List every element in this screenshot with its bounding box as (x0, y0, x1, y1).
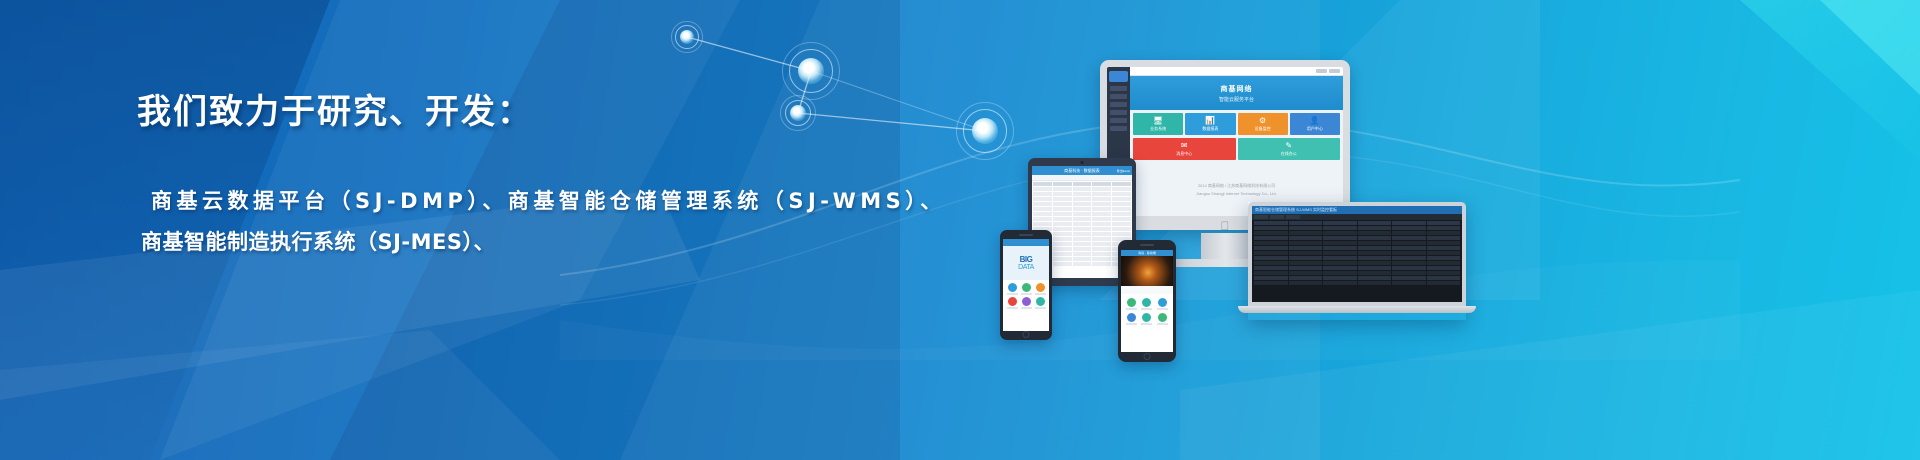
phone-speaker-icon (1019, 234, 1033, 236)
network-node-1 (680, 30, 694, 44)
dashboard-hero: 商基网络 智能云服务平台 (1130, 76, 1343, 110)
table-header-row (1032, 181, 1132, 186)
table-row[interactable] (1032, 216, 1132, 221)
tile-reports-label: 数据报表 (1202, 126, 1218, 132)
banner-product-list: 商基云数据平台（SJ-DMP）、商基智能仓储管理系统（SJ-WMS）、 商基智能… (137, 181, 957, 263)
app-leaf[interactable] (1020, 283, 1032, 295)
table-row[interactable] (1252, 280, 1462, 285)
user-icon (1158, 313, 1167, 322)
product-line-1: 商基云数据平台（SJ-DMP）、商基智能仓储管理系统（SJ-WMS）、 (137, 181, 957, 222)
tile-monitoring[interactable]: ⚙ 设备监控 (1238, 113, 1288, 135)
table-row[interactable] (1252, 255, 1462, 260)
table-row[interactable] (1252, 240, 1462, 245)
table-row[interactable] (1252, 260, 1462, 265)
laptop-title: 商基智能仓储管理系统 SJ-WMS 实时监控看板 (1255, 207, 1337, 213)
tile-messages[interactable]: ✉ 消息中心 (1133, 138, 1236, 160)
gauge-icon: ⚙ (1259, 117, 1266, 125)
table-row[interactable] (1252, 225, 1462, 230)
bigdata-hero-bottom: DATA (1018, 264, 1034, 271)
bigdata-hero-top: BIG (1020, 256, 1033, 264)
tile-office-label: 在线办公 (1281, 151, 1297, 157)
footer-line-2: Jiangsu Shangji Internet Technology Co.,… (1196, 191, 1276, 196)
chart-icon: 📊 (1205, 117, 1215, 125)
app-chart[interactable] (1125, 313, 1138, 325)
tablet-camera-icon (1081, 161, 1084, 164)
tile-reports[interactable]: 📊 数据报表 (1185, 113, 1235, 135)
table-row[interactable] (1032, 211, 1132, 216)
gear-icon (1022, 297, 1031, 306)
laptop-lid: 商基智能仓储管理系统 SJ-WMS 实时监控看板 (1248, 202, 1466, 306)
dashboard-tiles-row2: ✉ 消息中心 ✎ 在线办公 (1130, 138, 1343, 163)
product-line-2: 商基智能制造执行系统（SJ-MES）、 (137, 222, 957, 263)
sidebar-item-4[interactable] (1110, 118, 1127, 123)
cloud-icon (1158, 298, 1167, 307)
topbar-user-icon[interactable] (1329, 69, 1340, 73)
laptop-device: 商基智能仓储管理系统 SJ-WMS 实时监控看板 (1248, 202, 1466, 320)
sidebar-item-2[interactable] (1110, 102, 1127, 107)
app-cloud[interactable] (1156, 298, 1169, 310)
tile-user-center-label: 用户中心 (1307, 126, 1323, 132)
tile-business[interactable]: 🖥 业务系统 (1133, 113, 1183, 135)
bg-facet-corner-glow (1560, 0, 1920, 200)
phone-bigdata-hero: BIG DATA (1003, 246, 1049, 280)
app-user[interactable] (1156, 313, 1169, 325)
tile-user-center[interactable]: 👤 用户中心 (1290, 113, 1340, 135)
app-cloud[interactable] (1006, 283, 1018, 295)
col-0 (1033, 182, 1052, 186)
app-gear[interactable] (1020, 297, 1032, 309)
table-row[interactable] (1252, 250, 1462, 255)
table-row[interactable] (1032, 191, 1132, 196)
banner-headline: 我们致力于研究、开发： (137, 92, 957, 133)
topbar-search-icon[interactable] (1316, 69, 1327, 73)
app-chart[interactable] (1034, 283, 1046, 295)
phone-video-device: 商基 · 移动端 (1118, 240, 1176, 362)
laptop-screen: 商基智能仓储管理系统 SJ-WMS 实时监控看板 (1252, 206, 1462, 302)
tile-office[interactable]: ✎ 在线办公 (1238, 138, 1341, 160)
table-row[interactable] (1032, 186, 1132, 191)
table-row[interactable] (1252, 230, 1462, 235)
app-leaf[interactable] (1125, 298, 1138, 310)
tile-business-label: 业务系统 (1150, 126, 1166, 132)
device-cluster: 商基网络 智能云服务平台 🖥 业务系统 📊 数据报表 (1000, 40, 1520, 370)
phone-bigdata-statusbar (1003, 239, 1049, 246)
table-row[interactable] (1252, 265, 1462, 270)
table-row[interactable] (1252, 245, 1462, 250)
dashboard-main: 商基网络 智能云服务平台 🖥 业务系统 📊 数据报表 (1130, 67, 1343, 216)
network-node-3 (798, 58, 824, 84)
col-1 (1053, 182, 1072, 186)
imac-stand-neck (1201, 233, 1249, 259)
monitor-icon: 🖥 (1153, 117, 1163, 125)
table-row[interactable] (1032, 221, 1132, 226)
sidebar-item-0[interactable] (1110, 86, 1127, 91)
col-3 (1092, 182, 1111, 186)
dashboard-hero-subtitle: 智能云服务平台 (1219, 96, 1254, 103)
dashboard-topbar (1130, 67, 1343, 76)
phone-video-caption (1121, 286, 1173, 294)
phone-video-screen: 商基 · 移动端 (1121, 250, 1173, 352)
phone-home-button[interactable] (1144, 353, 1151, 360)
compass-icon (1142, 298, 1151, 307)
tile-monitoring-label: 设备监控 (1255, 126, 1271, 132)
dashboard-logo-icon (1109, 71, 1128, 82)
sidebar-item-3[interactable] (1110, 110, 1127, 115)
phone-video-icon-grid (1121, 294, 1173, 329)
edit-icon: ✎ (1285, 142, 1292, 150)
laptop-table-header (1252, 220, 1462, 225)
laptop-titlebar: 商基智能仓储管理系统 SJ-WMS 实时监控看板 (1252, 206, 1462, 214)
table-row[interactable] (1032, 201, 1132, 206)
table-row[interactable] (1252, 270, 1462, 275)
table-row[interactable] (1032, 206, 1132, 211)
app-user[interactable] (1006, 297, 1018, 309)
mail-icon: ✉ (1181, 142, 1188, 150)
tile-messages-label: 消息中心 (1176, 151, 1192, 157)
phone-bigdata-icon-grid (1003, 280, 1049, 312)
app-mail[interactable] (1034, 297, 1046, 309)
bg-facet-corner-cyan (1620, 0, 1920, 120)
sidebar-item-1[interactable] (1110, 94, 1127, 99)
toolbar-button-2[interactable] (1270, 215, 1284, 219)
phone-bigdata-device: BIG DATA (1000, 230, 1052, 340)
app-gear[interactable] (1141, 313, 1154, 325)
dashboard-tiles-row1: 🖥 业务系统 📊 数据报表 ⚙ 设备监控 (1130, 110, 1343, 138)
footer-line-1: 2014 商基网络 / 江苏商基网络科技有限公司 (1198, 183, 1275, 189)
imac-screen: 商基网络 智能云服务平台 🖥 业务系统 📊 数据报表 (1107, 67, 1343, 216)
table-row[interactable] (1032, 196, 1132, 201)
phone-video-title: 商基 · 移动端 (1138, 251, 1156, 255)
gear-icon (1142, 313, 1151, 322)
chart-icon (1036, 283, 1045, 292)
toolbar-button-3[interactable] (1286, 215, 1300, 219)
chart-icon (1127, 313, 1136, 322)
bg-facet-9 (0, 330, 560, 460)
mail-icon (1036, 297, 1045, 306)
table-row[interactable] (1252, 275, 1462, 280)
network-node-4 (972, 118, 998, 144)
banner-copy: 我们致力于研究、开发： 商基云数据平台（SJ-DMP）、商基智能仓储管理系统（S… (137, 92, 957, 263)
col-4 (1112, 182, 1131, 186)
tablet-title: 商基科技 · 数据报表 (1064, 168, 1100, 174)
col-2 (1073, 182, 1092, 186)
sidebar-item-5[interactable] (1110, 126, 1127, 131)
user-icon: 👤 (1310, 117, 1320, 125)
phone-home-button[interactable] (1023, 331, 1030, 338)
tablet-export-button[interactable]: 导出Excel (1117, 169, 1130, 173)
phone-bigdata-screen: BIG DATA (1003, 239, 1049, 331)
user-icon (1008, 297, 1017, 306)
phone-speaker-icon (1140, 244, 1154, 246)
phone-video-player[interactable] (1121, 256, 1173, 286)
table-row[interactable] (1252, 235, 1462, 240)
app-compass[interactable] (1141, 298, 1154, 310)
leaf-icon (1127, 298, 1136, 307)
laptop-base (1238, 306, 1476, 313)
leaf-icon (1022, 283, 1031, 292)
dashboard-hero-title: 商基网络 (1221, 84, 1253, 94)
toolbar-button-1[interactable] (1254, 215, 1268, 219)
hero-banner: 我们致力于研究、开发： 商基云数据平台（SJ-DMP）、商基智能仓储管理系统（S… (0, 0, 1920, 460)
tablet-titlebar: 商基科技 · 数据报表 导出Excel (1032, 166, 1132, 175)
cloud-icon (1008, 283, 1017, 292)
